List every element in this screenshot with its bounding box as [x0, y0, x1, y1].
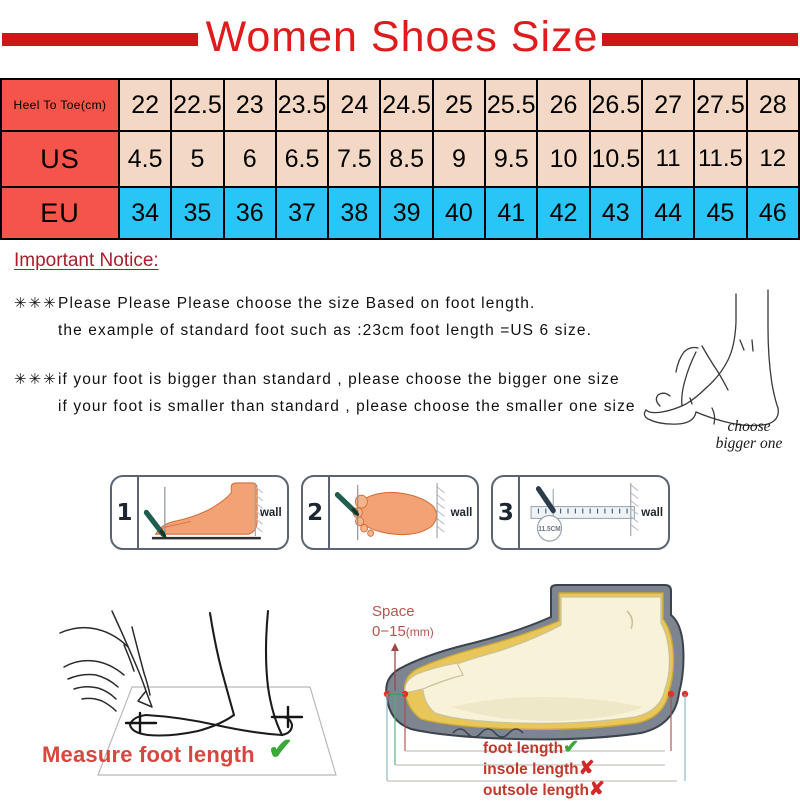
cell-eu: 34	[119, 187, 171, 239]
step-number: 1	[112, 477, 139, 548]
cell-eu: 42	[537, 187, 589, 239]
foot-side-view-icon: wall	[139, 477, 287, 548]
cell-cm: 26.5	[590, 79, 642, 131]
cell-cm: 24.5	[380, 79, 432, 131]
notice-title: Important Notice:	[14, 250, 159, 272]
size-chart-body: Heel To Toe(cm) 22 22.5 23 23.5 24 24.5 …	[1, 79, 799, 239]
cell-cm: 25.5	[485, 79, 537, 131]
table-row-heel-to-toe: Heel To Toe(cm) 22 22.5 23 23.5 24 24.5 …	[1, 79, 799, 131]
cell-eu: 44	[642, 187, 694, 239]
cell-us: 10	[537, 131, 589, 187]
notice-text: the example of standard foot such as :23…	[58, 317, 592, 344]
foot-top-view-icon: wall	[330, 477, 478, 548]
cell-eu: 37	[276, 187, 328, 239]
ruler-measure-icon: 11.5CM wall	[520, 477, 668, 548]
cell-eu: 46	[747, 187, 799, 239]
asterisk-icon: ✳✳✳	[14, 366, 58, 393]
green-check-icon: ✔	[268, 735, 293, 765]
cell-us: 9.5	[485, 131, 537, 187]
space-label-line2: 0−15(mm)	[372, 622, 434, 642]
red-cross-icon: ✘	[579, 758, 595, 779]
cell-us: 8.5	[380, 131, 432, 187]
dimension-row-foot-length: foot length✔	[483, 738, 605, 759]
cell-us: 11	[642, 131, 694, 187]
measurement-steps: 1 wall	[110, 475, 670, 550]
dimension-row-insole-length: insole length✘	[483, 759, 605, 780]
row-header-eu: EU	[1, 187, 119, 239]
dimension-label: outsole length	[483, 782, 589, 799]
cell-eu: 43	[590, 187, 642, 239]
cell-cm: 22	[119, 79, 171, 131]
measure-badge-text: 11.5CM	[539, 526, 562, 533]
asterisk-icon: ✳✳✳	[14, 290, 58, 317]
cell-cm: 22.5	[171, 79, 223, 131]
cell-us: 10.5	[590, 131, 642, 187]
dimension-label: foot length	[483, 740, 563, 757]
step-number: 2	[303, 477, 330, 548]
cell-cm: 28	[747, 79, 799, 131]
green-check-icon: ✔	[563, 737, 579, 758]
table-row-eu: EU 34 35 36 37 38 39 40 41 42 43 44 45 4…	[1, 187, 799, 239]
step-panel-1: 1 wall	[110, 475, 289, 550]
cell-cm: 25	[433, 79, 485, 131]
dimension-labels: foot length✔ insole length✘ outsole leng…	[483, 738, 605, 801]
cell-eu: 45	[694, 187, 746, 239]
cell-eu: 41	[485, 187, 537, 239]
cell-cm: 26	[537, 79, 589, 131]
notice-text: if your foot is bigger than standard , p…	[58, 366, 620, 393]
notice-text: Please Please Please choose the size Bas…	[58, 290, 535, 317]
space-label-line1: Space	[372, 602, 434, 622]
notice-text: if your foot is smaller than standard , …	[58, 393, 636, 420]
cell-us: 6.5	[276, 131, 328, 187]
cell-eu: 40	[433, 187, 485, 239]
space-range: 0−15	[372, 623, 406, 640]
dimension-row-outsole-length: outsole length✘	[483, 780, 605, 801]
size-chart-table: Heel To Toe(cm) 22 22.5 23 23.5 24 24.5 …	[0, 78, 800, 240]
space-unit: (mm)	[406, 625, 434, 639]
cell-eu: 35	[171, 187, 223, 239]
step-number: 3	[493, 477, 520, 548]
cell-cm: 27.5	[694, 79, 746, 131]
page-title: Women Shoes Size	[206, 16, 599, 63]
step-panel-2: 2	[301, 475, 480, 550]
caption-line-2: bigger one	[694, 435, 800, 452]
row-header-heel-to-toe: Heel To Toe(cm)	[1, 79, 119, 131]
wall-label: wall	[451, 507, 473, 519]
cell-us: 9	[433, 131, 485, 187]
caption-line-1: choose	[694, 418, 800, 435]
dimension-label: insole length	[483, 761, 579, 778]
wall-label: wall	[641, 507, 663, 519]
cell-cm: 27	[642, 79, 694, 131]
choose-bigger-caption: choose bigger one	[694, 418, 800, 452]
measure-foot-label: Measure foot length	[42, 742, 255, 768]
cell-cm: 24	[328, 79, 380, 131]
cell-us: 11.5	[694, 131, 746, 187]
cell-eu: 39	[380, 187, 432, 239]
step-panel-3: 3 11.5CM	[491, 475, 670, 550]
page-header: Women Shoes Size	[0, 0, 800, 78]
cell-us: 6	[224, 131, 276, 187]
wall-label: wall	[260, 507, 282, 519]
title-rule-left	[2, 33, 198, 46]
cell-cm: 23.5	[276, 79, 328, 131]
cell-eu: 38	[328, 187, 380, 239]
cell-us: 4.5	[119, 131, 171, 187]
cell-us: 12	[747, 131, 799, 187]
space-gap-label: Space 0−15(mm)	[372, 602, 434, 642]
table-row-us: US 4.5 5 6 6.5 7.5 8.5 9 9.5 10 10.5 11 …	[1, 131, 799, 187]
cell-cm: 23	[224, 79, 276, 131]
title-rule-right	[602, 33, 798, 46]
cell-us: 7.5	[328, 131, 380, 187]
cell-us: 5	[171, 131, 223, 187]
cell-eu: 36	[224, 187, 276, 239]
row-header-us: US	[1, 131, 119, 187]
red-cross-icon: ✘	[589, 779, 605, 800]
